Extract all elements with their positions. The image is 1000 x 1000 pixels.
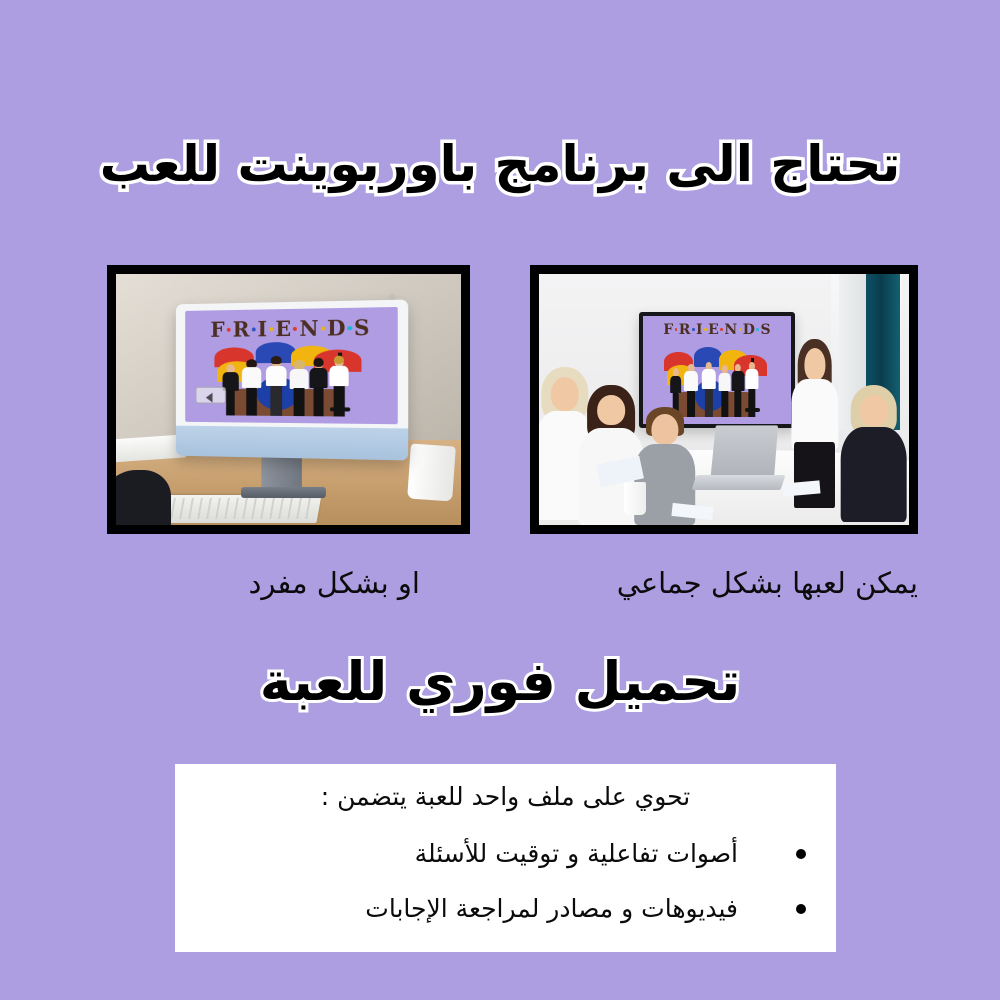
- cast-person-2: [240, 359, 263, 415]
- person-shoulder: [116, 470, 171, 525]
- logo-letter: I: [696, 322, 703, 338]
- logo-letter: D: [327, 314, 345, 340]
- info-box: تحوي على ملف واحد للعبة يتضمن : أصوات تف…: [175, 764, 836, 952]
- logo-dot: [227, 327, 231, 331]
- list-item-label: فيديوهات و مصادر لمراجعة الإجابات: [365, 894, 738, 923]
- logo-dot: [704, 328, 707, 331]
- logo-dot: [269, 327, 273, 331]
- logo-letter: N: [724, 322, 737, 338]
- logo-dot: [720, 328, 723, 331]
- cast-person-6: [328, 357, 351, 416]
- bullet-icon: [796, 904, 806, 914]
- cast-person-3: [700, 362, 716, 417]
- list-item-label: أصوات تفاعلية و توقيت للأسئلة: [415, 839, 738, 868]
- image-card-group-play[interactable]: FRIENDS: [530, 265, 918, 534]
- logo-dot: [321, 326, 325, 330]
- cast-person-5: [730, 364, 745, 418]
- logo-dot: [739, 328, 742, 331]
- logo-letter: R: [679, 322, 691, 338]
- logo-letter: I: [258, 316, 268, 341]
- logo-dot: [252, 327, 256, 331]
- friends-logo: FRIENDS: [185, 314, 397, 342]
- imac-screen: FRIENDS: [185, 307, 397, 424]
- logo-dot: [348, 326, 352, 330]
- imac-stand-foot: [241, 487, 326, 498]
- logo-letter: E: [275, 315, 291, 340]
- info-box-list: أصوات تفاعلية و توقيت للأسئلةفيديوهات و …: [205, 826, 806, 936]
- section-title-instant-download: تحميل فوري للعبة: [0, 650, 1000, 713]
- logo-dot: [756, 328, 759, 331]
- imac-chin: [176, 425, 408, 460]
- cup: [407, 443, 456, 501]
- cast-person-6: [744, 362, 759, 417]
- logo-letter: S: [354, 314, 370, 340]
- play-button-icon[interactable]: [195, 386, 225, 404]
- list-item: فيديوهات و مصادر لمراجعة الإجابات: [205, 881, 806, 936]
- friends-logo: FRIENDS: [643, 322, 791, 338]
- image-card-single-play[interactable]: FRIENDS: [107, 265, 470, 534]
- logo-letter: F: [211, 316, 225, 341]
- bullet-icon: [796, 849, 806, 859]
- logo-letter: F: [663, 322, 673, 338]
- cast-person-3: [265, 358, 288, 416]
- friends-artwork: FRIENDS: [185, 307, 397, 424]
- meeting-room-photo: FRIENDS: [539, 274, 909, 525]
- caption-single-play: او بشكل مفرد: [248, 566, 420, 600]
- logo-letter: R: [233, 316, 250, 341]
- keyboard: [155, 495, 322, 523]
- logo-dot: [675, 328, 678, 331]
- list-item: أصوات تفاعلية و توقيت للأسئلة: [205, 826, 806, 881]
- promo-poster: تحتاج الى برنامج باوربوينت للعب FRIENDS: [0, 0, 1000, 1000]
- imac-desk-photo: FRIENDS: [116, 274, 461, 525]
- info-box-intro: تحوي على ملف واحد للعبة يتضمن :: [215, 782, 796, 811]
- logo-letter: S: [760, 322, 770, 338]
- cast-person-5: [307, 359, 329, 416]
- laptop-screen: [710, 425, 778, 480]
- friends-cast-illustration: [212, 340, 369, 420]
- coffee-mug: [624, 482, 646, 515]
- page-title: تحتاج الى برنامج باوربوينت للعب: [0, 136, 1000, 194]
- attendee-4: [842, 382, 905, 523]
- logo-dot: [293, 326, 297, 330]
- laptop-keyboard: [692, 475, 786, 490]
- logo-letter: E: [708, 322, 719, 338]
- logo-dot: [692, 328, 695, 331]
- logo-letter: D: [743, 322, 755, 338]
- caption-group-play: يمكن لعبها بشكل جماعي: [617, 566, 918, 600]
- logo-letter: N: [300, 315, 319, 340]
- imac-body: FRIENDS: [176, 299, 408, 460]
